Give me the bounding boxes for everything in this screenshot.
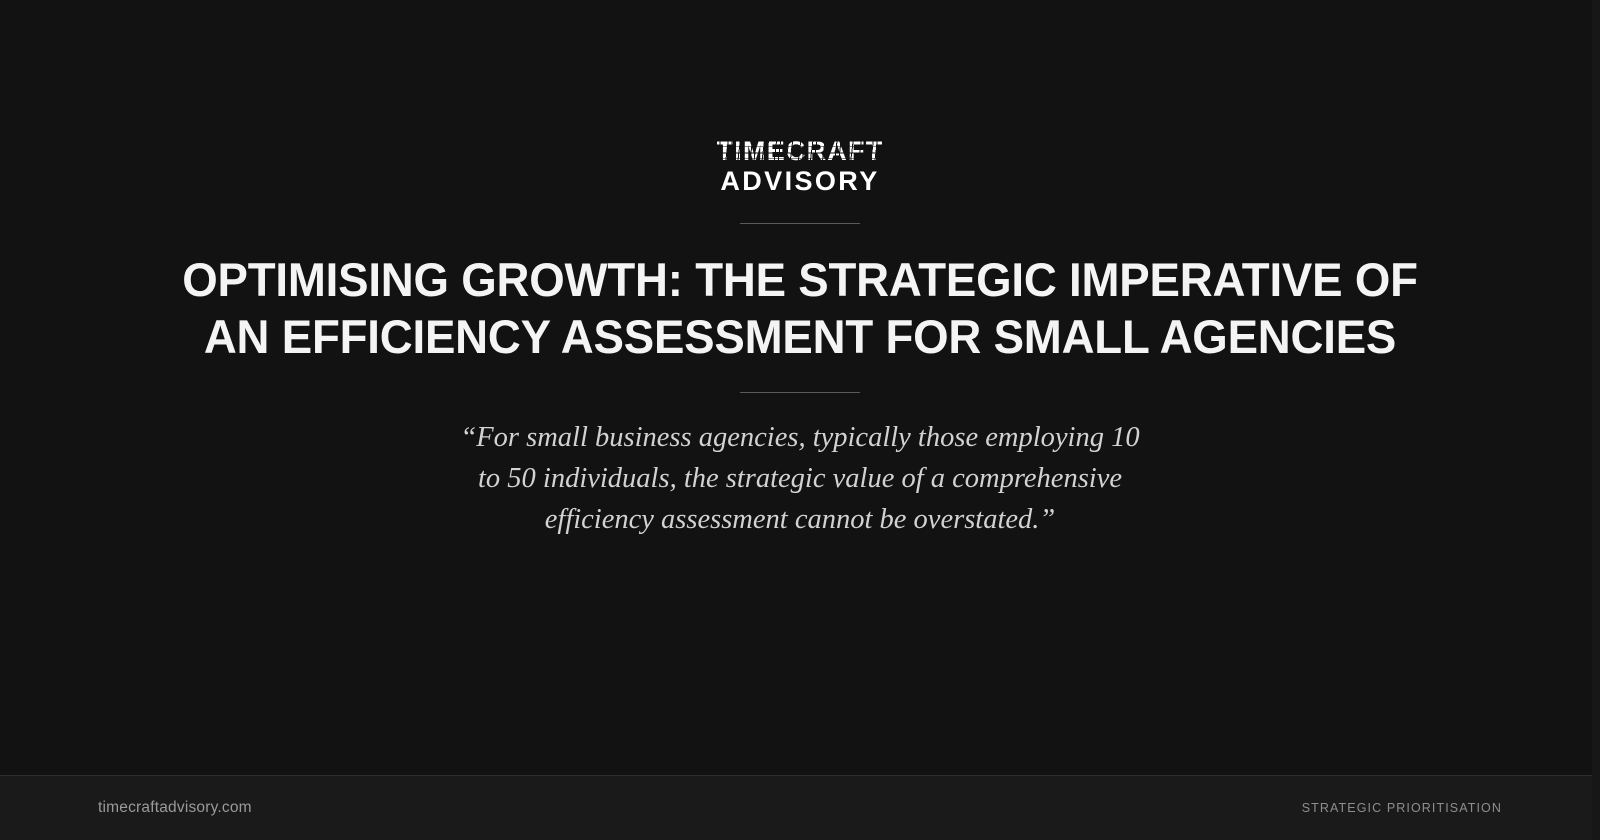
brand-logo: TIMECRAFT ADVISORY — [717, 138, 884, 195]
divider-under-logo — [740, 223, 860, 224]
logo-wordmark-advisory: ADVISORY — [720, 167, 879, 195]
slide-right-edge — [1592, 0, 1600, 840]
divider-under-title — [740, 392, 860, 393]
slide-content: TIMECRAFT ADVISORY OPTIMISING GROWTH: TH… — [0, 0, 1600, 775]
page-title: OPTIMISING GROWTH: THE STRATEGIC IMPERAT… — [24, 252, 1576, 366]
pull-quote: “For small business agencies, typically … — [450, 417, 1150, 541]
footer-website: timecraftadvisory.com — [98, 799, 252, 817]
slide-footer: timecraftadvisory.com STRATEGIC PRIORITI… — [0, 775, 1600, 840]
logo-wordmark-timecraft: TIMECRAFT — [717, 138, 884, 166]
footer-section-label: STRATEGIC PRIORITISATION — [1302, 801, 1502, 815]
presentation-slide: TIMECRAFT ADVISORY OPTIMISING GROWTH: TH… — [0, 0, 1600, 840]
